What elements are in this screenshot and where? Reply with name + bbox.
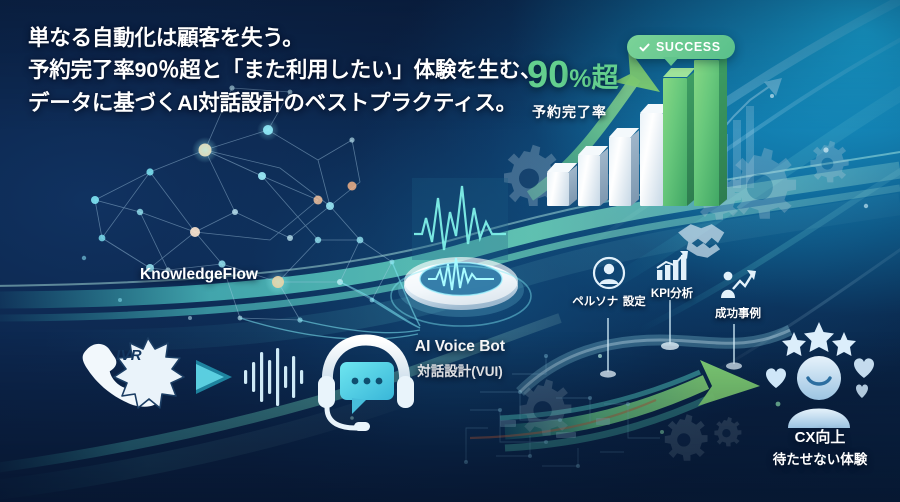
cx-subtitle: 待たせない体験 (740, 448, 900, 468)
cx-title: CX向上 (740, 426, 900, 447)
milestone-label: KPI分析 (651, 288, 693, 300)
badge-tail (663, 57, 679, 66)
three-stars-icon (782, 322, 856, 356)
status-badge: SUCCESS (627, 35, 735, 59)
bar-chart-trend-icon (653, 250, 691, 282)
cx-outcome-group (744, 316, 894, 434)
badge-label: SUCCESS (656, 40, 721, 54)
headline-line-1: 単なる自動化は顧客を失う。 (28, 22, 541, 54)
milestone-label: ペルソナ (572, 296, 618, 308)
milestone-success-case: 成功事例 (700, 268, 776, 322)
check-icon (638, 41, 651, 54)
stat-suffix: 超 (592, 63, 619, 93)
knowledge-network-label: KnowledgeFlow (140, 266, 258, 284)
ivr-label: IVR (116, 347, 142, 364)
page-headline: 単なる自動化は顧客を失う。 予約完了率90％超と「また利用したい」体験を生む、 … (28, 22, 541, 119)
stat-caption: 予約完了率 (532, 102, 607, 122)
infographic-canvas: KnowledgeFlow (0, 0, 900, 502)
smiling-avatar-icon (788, 356, 850, 428)
milestone-kpi: KPI分析 (636, 250, 708, 302)
user-circle-icon (592, 256, 626, 290)
milestone-persona: ペルソナ 設定 (572, 256, 646, 310)
headline-line-3: データに基づくAI対話設計のベストプラクティス。 (28, 87, 541, 119)
stat-unit: % (569, 65, 591, 93)
milestone-label: 成功事例 (715, 308, 761, 320)
headline-line-2: 予約完了率90％超と「また利用したい」体験を生む、 (28, 54, 541, 86)
person-growth-icon (718, 268, 758, 302)
